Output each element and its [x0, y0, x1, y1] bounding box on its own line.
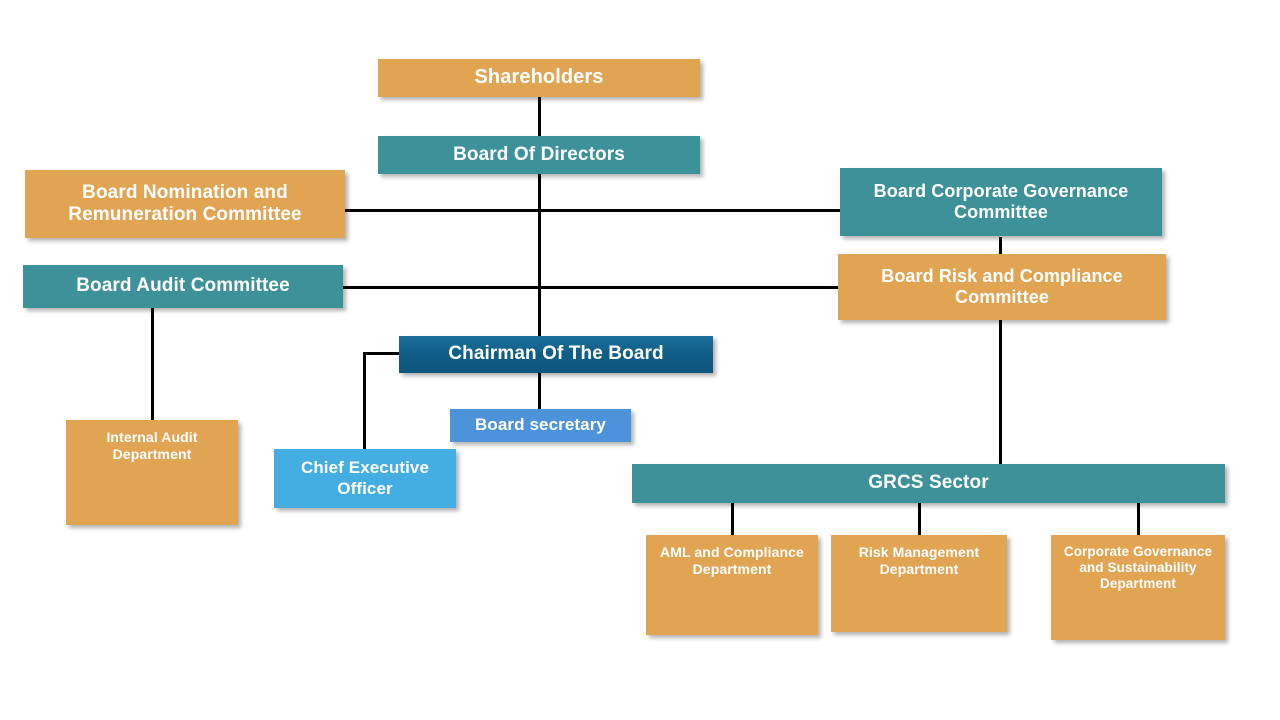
org-chart-canvas: Shareholders Board Of Directors Board No… — [0, 0, 1280, 720]
node-grcs-sector[interactable]: GRCS Sector — [632, 464, 1225, 503]
connector-committee-row-upper — [345, 209, 842, 212]
connector-committee-row-lower — [343, 286, 842, 289]
node-internal-audit-department[interactable]: Internal Audit Department — [66, 420, 238, 525]
node-board-of-directors[interactable]: Board Of Directors — [378, 136, 700, 174]
node-board-secretary[interactable]: Board secretary — [450, 409, 631, 442]
node-board-audit-committee[interactable]: Board Audit Committee — [23, 265, 343, 308]
connector-board-spine — [538, 173, 541, 337]
connector-chairman-to-secretary — [538, 373, 541, 409]
node-board-corporate-governance-committee[interactable]: Board Corporate Governance Committee — [840, 168, 1162, 236]
node-board-risk-and-compliance-committee[interactable]: Board Risk and Compliance Committee — [838, 254, 1166, 320]
node-chairman-of-the-board[interactable]: Chairman Of The Board — [399, 336, 713, 373]
connector-grcs-to-corporate-governance — [1137, 503, 1140, 535]
connector-risk-to-grcs — [999, 320, 1002, 464]
node-chief-executive-officer[interactable]: Chief Executive Officer — [274, 449, 456, 508]
node-board-nomination-and-remuneration-committee[interactable]: Board Nomination and Remuneration Commit… — [25, 170, 345, 238]
connector-audit-to-internal-audit — [151, 308, 154, 420]
node-shareholders[interactable]: Shareholders — [378, 59, 700, 97]
node-aml-and-compliance-department[interactable]: AML and Compliance Department — [646, 535, 818, 635]
node-risk-management-department[interactable]: Risk Management Department — [831, 535, 1007, 632]
connector-chairman-to-ceo-horizontal — [363, 352, 403, 355]
connector-chairman-to-ceo-vertical — [363, 352, 366, 449]
connector-shareholders-to-board — [538, 96, 541, 140]
node-corporate-governance-and-sustainability-department[interactable]: Corporate Governance and Sustainability … — [1051, 535, 1225, 640]
connector-grcs-to-risk-management — [918, 503, 921, 535]
connector-grcs-to-aml — [731, 503, 734, 535]
